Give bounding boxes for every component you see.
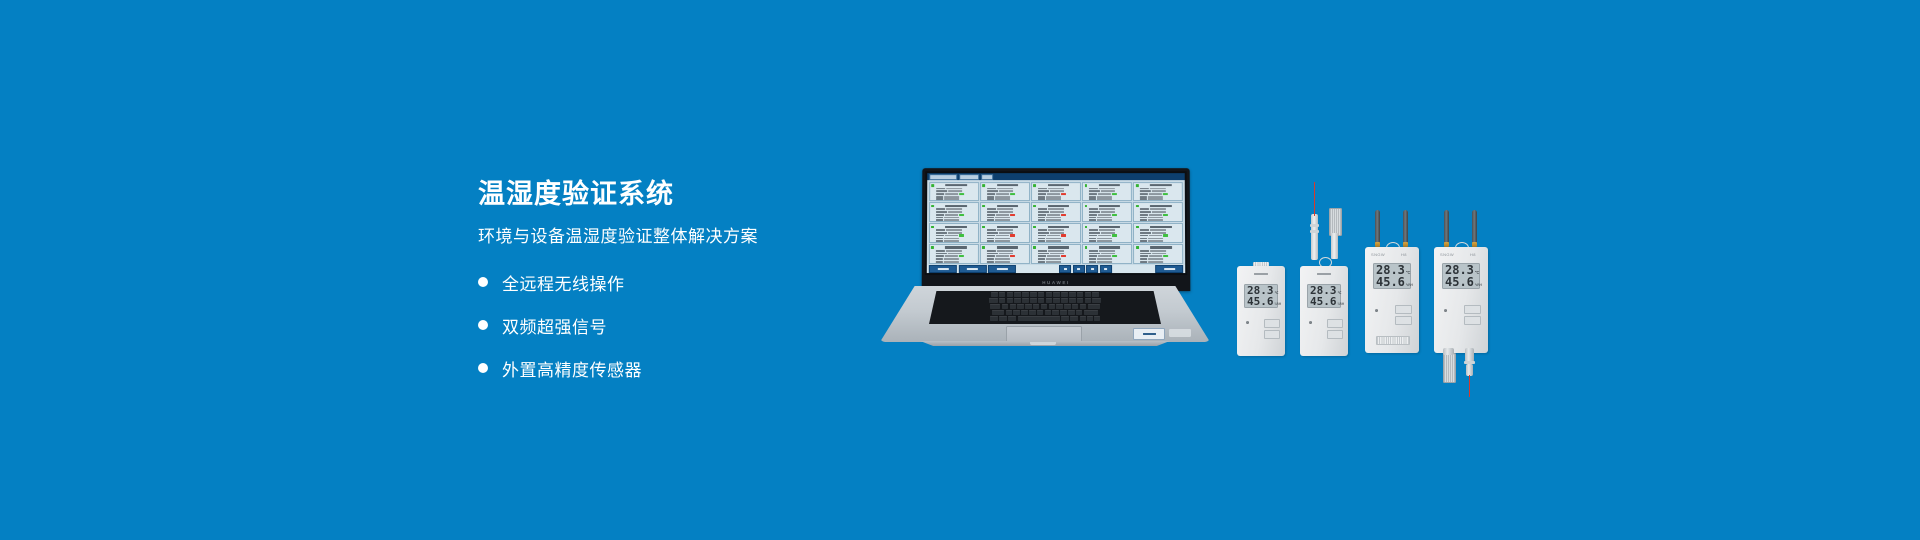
- sensor-field-value: [1046, 240, 1061, 242]
- sensor-card[interactable]: [1133, 182, 1183, 202]
- keyboard-key[interactable]: [999, 316, 1007, 321]
- laptop-lid: HUAWEI: [922, 168, 1191, 291]
- status-dot-icon: [1136, 226, 1139, 229]
- sensor-card-row: [1140, 193, 1181, 195]
- sensor-field-value: [943, 240, 958, 242]
- sensor-card-row: [1038, 190, 1079, 192]
- sensor-card[interactable]: [1082, 244, 1132, 264]
- keyboard-key[interactable]: [1069, 292, 1076, 297]
- keyboard-key[interactable]: [1007, 292, 1014, 297]
- sensor-field-value: [1046, 219, 1061, 221]
- sensor-card-title: [1150, 246, 1171, 248]
- keyboard-key[interactable]: [1064, 304, 1071, 309]
- sensor-card-row: [987, 199, 1028, 201]
- sensor-card-row: [987, 258, 1028, 260]
- sensor-field-value: [1101, 211, 1115, 213]
- status-dot-icon: [931, 246, 934, 249]
- page-subtitle: 环境与设备温湿度验证整体解决方案: [478, 226, 898, 248]
- keyboard-deck: [880, 286, 1210, 342]
- keyboard-key[interactable]: [1056, 304, 1063, 309]
- sensor-card[interactable]: [980, 182, 1030, 202]
- keyboard-key[interactable]: [1022, 298, 1029, 303]
- pager-button[interactable]: [1059, 265, 1071, 273]
- keyboard-key[interactable]: [1006, 310, 1013, 315]
- alarm-badge: [1010, 214, 1015, 216]
- bullet-dot-icon: [478, 277, 488, 287]
- keyboard-key[interactable]: [1007, 298, 1014, 303]
- sensor-card-title: [997, 246, 1018, 248]
- antenna-right: [1403, 210, 1408, 244]
- sensor-field-label: [1038, 240, 1045, 242]
- keyboard-key[interactable]: [1072, 304, 1079, 309]
- sensor-card-row: [1038, 196, 1079, 198]
- sensor-field-label: [987, 232, 998, 234]
- keyboard-key[interactable]: [1087, 316, 1093, 321]
- sensor-card-title: [1099, 205, 1120, 207]
- sensor-card-row: [1038, 188, 1079, 190]
- sensor-card[interactable]: [1031, 202, 1081, 222]
- device-button-up[interactable]: [1395, 305, 1412, 314]
- sensor-card-row: [935, 255, 976, 257]
- sensor-card[interactable]: [928, 223, 978, 243]
- keyboard-key[interactable]: [992, 310, 1004, 315]
- device-model-label-right: H8: [1470, 252, 1476, 257]
- device-wireless-gateway-1: SNGW H8 28.3 ℃ 45.6 %RH: [1365, 243, 1419, 353]
- sensor-card-row: [1038, 208, 1079, 210]
- keyboard-key[interactable]: [989, 298, 998, 303]
- laptop-product-image: HUAWEI: [880, 168, 1210, 368]
- sensor-field-value: [1148, 240, 1163, 242]
- device-model-label-left: SNGW: [1371, 252, 1385, 257]
- sensor-field-value: [1048, 188, 1064, 190]
- sensor-field-label: [1089, 208, 1098, 210]
- sensor-field-label: [1038, 219, 1045, 221]
- sensor-card[interactable]: [1031, 244, 1081, 264]
- sensor-field-value: [995, 258, 1010, 260]
- sensor-field-value: [945, 193, 958, 195]
- sensor-card-row: [987, 208, 1028, 210]
- sensor-field-label: [987, 250, 996, 252]
- toolbar-button[interactable]: [958, 265, 986, 273]
- sensor-field-value: [1097, 219, 1112, 221]
- sensor-field-value: [1097, 258, 1112, 260]
- keyboard-key[interactable]: [1014, 292, 1021, 297]
- sensor-field-value: [1148, 196, 1163, 198]
- sensor-field-value: [1050, 190, 1064, 192]
- sensor-card[interactable]: [980, 223, 1030, 243]
- sensor-field-value: [1099, 250, 1115, 252]
- keyboard-key[interactable]: [1092, 292, 1099, 297]
- sensor-card-row: [1089, 234, 1130, 236]
- keyboard-key[interactable]: [1080, 304, 1087, 309]
- device-button-down[interactable]: [1395, 316, 1412, 325]
- keyboard-key[interactable]: [1080, 316, 1086, 321]
- sensor-field-label: [987, 188, 996, 190]
- promo-banner: 温湿度验证系统 环境与设备温湿度验证整体解决方案 全远程无线操作 双频超强信号 …: [0, 0, 1920, 540]
- keyboard-key[interactable]: [1092, 298, 1101, 303]
- sensor-field-value: [1048, 250, 1064, 252]
- probe-collar: [1443, 348, 1454, 355]
- device-button-up[interactable]: [1264, 319, 1280, 328]
- sensor-field-label: [1038, 237, 1045, 239]
- keyboard-key[interactable]: [1069, 298, 1076, 303]
- sensor-field-label: [987, 217, 994, 219]
- keyboard-key[interactable]: [1022, 292, 1029, 297]
- sensor-field-value: [948, 190, 962, 192]
- sensor-field-label: [1089, 237, 1096, 239]
- keyboard-key[interactable]: [1038, 298, 1045, 303]
- sensor-card-row: [936, 188, 977, 190]
- status-dot-icon: [1085, 226, 1088, 229]
- sensor-field-label: [1140, 229, 1149, 231]
- sensor-field-value: [1148, 217, 1163, 219]
- sensor-card-title: [1150, 226, 1171, 228]
- sensor-field-value: [1150, 255, 1163, 257]
- sensor-field-value: [1150, 188, 1166, 190]
- sensor-field-label: [1089, 219, 1096, 221]
- keyboard-key[interactable]: [1061, 292, 1068, 297]
- sensor-card-title: [1048, 205, 1069, 207]
- sensor-card[interactable]: [980, 244, 1030, 264]
- sensor-field-label: [1038, 235, 1046, 237]
- keyboard-key[interactable]: [1038, 292, 1045, 297]
- sensor-card-row: [1089, 229, 1130, 231]
- sensor-card-row: [1038, 261, 1079, 263]
- sensor-card[interactable]: [1133, 223, 1183, 243]
- status-dot-icon: [1085, 184, 1088, 187]
- keyboard-key[interactable]: [1002, 304, 1009, 309]
- toolbar-button[interactable]: [988, 265, 1016, 273]
- keyboard-key[interactable]: [1041, 304, 1048, 309]
- sensor-field-value: [1050, 253, 1064, 255]
- keyboard-key[interactable]: [1070, 316, 1078, 321]
- laptop-base: [880, 286, 1210, 348]
- sensor-field-value: [948, 211, 962, 213]
- lcd-temperature-unit: ℃: [1406, 271, 1410, 275]
- sensor-field-label: [1141, 250, 1150, 252]
- keyboard-key[interactable]: [1052, 310, 1059, 315]
- sensor-field-value: [1149, 193, 1162, 195]
- gateway-body: SNGW H8 28.3 ℃ 45.6 %RH: [1434, 247, 1488, 353]
- sensor-card-row: [936, 214, 977, 216]
- device-wireless-gateway-2: SNGW H8 28.3 ℃ 45.6 %RH: [1434, 243, 1488, 353]
- lcd-humidity-row: 45.6 %RH: [1310, 296, 1338, 307]
- sensor-field-label: [936, 193, 944, 195]
- sensor-field-value: [1101, 232, 1115, 234]
- keyboard-key[interactable]: [1084, 310, 1098, 315]
- sensor-field-value: [947, 232, 961, 234]
- keyboard-key[interactable]: [1018, 316, 1060, 321]
- sensor-field-value: [1097, 237, 1112, 239]
- sensor-field-label: [1141, 253, 1152, 255]
- sensor-field-label: [1089, 235, 1097, 237]
- sensor-field-label: [935, 253, 946, 255]
- keyboard-key[interactable]: [1068, 310, 1075, 315]
- keyboard-key[interactable]: [1030, 298, 1037, 303]
- status-dot-icon: [1085, 205, 1088, 208]
- sensor-field-label: [1038, 214, 1046, 216]
- sensor-field-label: [1089, 240, 1096, 242]
- sensor-field-value: [1046, 199, 1061, 201]
- sensor-field-value: [944, 196, 959, 198]
- keyboard[interactable]: [929, 291, 1161, 324]
- sensor-card[interactable]: [928, 244, 978, 264]
- sensor-field-label: [987, 229, 996, 231]
- sensor-card-row: [987, 261, 1028, 263]
- sensor-card-grid: [927, 180, 1185, 265]
- sensor-field-label: [987, 235, 995, 237]
- sensor-card-row: [935, 250, 976, 252]
- lcd-humidity-value: 45.6: [1310, 296, 1337, 307]
- keyboard-key[interactable]: [1085, 292, 1092, 297]
- keyboard-key[interactable]: [1053, 292, 1060, 297]
- sensor-field-value: [944, 199, 959, 201]
- sensor-card[interactable]: [929, 202, 979, 222]
- sensor-field-label: [1038, 217, 1045, 219]
- sensor-card-title: [1150, 205, 1171, 207]
- keyboard-key[interactable]: [1021, 310, 1028, 315]
- sensor-card-row: [935, 229, 976, 231]
- keyboard-key[interactable]: [1094, 316, 1100, 321]
- sensor-card-row: [1089, 196, 1130, 198]
- sensor-field-label: [1089, 193, 1097, 195]
- sensor-field-label: [987, 219, 994, 221]
- sensor-card-row: [987, 190, 1028, 192]
- keyboard-key[interactable]: [1053, 298, 1060, 303]
- sensor-field-value: [945, 229, 961, 231]
- keyboard-key[interactable]: [1030, 292, 1037, 297]
- lcd-temperature-value: 28.3: [1247, 285, 1274, 296]
- lcd-humidity-value: 45.6: [1445, 276, 1474, 288]
- keyboard-key[interactable]: [1046, 292, 1053, 297]
- sensor-field-label: [935, 250, 944, 252]
- sensor-card-title: [946, 184, 967, 186]
- sensor-field-label: [1038, 255, 1046, 257]
- keyboard-key[interactable]: [1061, 316, 1069, 321]
- sensor-card-title: [1048, 246, 1069, 248]
- sensor-field-value: [1149, 214, 1162, 216]
- sensor-card-row: [1089, 217, 1130, 219]
- toolbar-button[interactable]: [929, 265, 957, 273]
- app-menu-item[interactable]: [959, 174, 979, 180]
- alarm-badge: [1061, 234, 1066, 236]
- keyboard-key[interactable]: [1045, 310, 1052, 315]
- sensor-card-row: [936, 190, 977, 192]
- sensor-card[interactable]: [1082, 182, 1132, 202]
- sensor-card-row: [1089, 237, 1130, 239]
- touchpad[interactable]: [1006, 326, 1082, 343]
- sensor-card[interactable]: [1133, 244, 1183, 264]
- keyboard-key[interactable]: [1085, 298, 1092, 303]
- app-menu-item[interactable]: [929, 174, 957, 180]
- sensor-field-label: [935, 237, 942, 239]
- keyboard-key[interactable]: [990, 304, 1000, 309]
- keyboard-key[interactable]: [990, 316, 998, 321]
- keyboard-key[interactable]: [999, 292, 1006, 297]
- sensor-field-label: [1038, 193, 1046, 195]
- sensor-field-value: [1149, 235, 1162, 237]
- keyboard-key[interactable]: [1077, 298, 1084, 303]
- sensor-field-label: [1089, 214, 1097, 216]
- keyboard-key[interactable]: [1061, 298, 1068, 303]
- sensor-field-value: [996, 193, 1009, 195]
- sensor-field-label: [987, 237, 994, 239]
- sensor-field-label: [987, 261, 994, 263]
- sensor-field-value: [944, 255, 957, 257]
- toolbar-button-exit[interactable]: [1155, 265, 1183, 273]
- sensor-card-row: [935, 240, 976, 242]
- status-dot-icon: [1136, 205, 1139, 208]
- sensor-card-row: [1038, 232, 1079, 234]
- alarm-badge: [1061, 255, 1066, 257]
- sensor-card-row: [1089, 258, 1130, 260]
- antenna-right: [1472, 210, 1477, 244]
- sensor-card[interactable]: [1133, 202, 1183, 222]
- sensor-card[interactable]: [1031, 223, 1081, 243]
- lcd-humidity-unit: %RH: [1406, 283, 1413, 287]
- sensor-card[interactable]: [980, 202, 1030, 222]
- device-button-up[interactable]: [1327, 319, 1343, 328]
- status-dot-icon: [1085, 246, 1088, 249]
- keyboard-key[interactable]: [1049, 304, 1056, 309]
- sensor-card-row: [936, 208, 977, 210]
- sensor-card-row: [1089, 190, 1130, 192]
- sensor-field-value: [1050, 211, 1064, 213]
- ok-badge: [959, 214, 964, 216]
- sensor-card[interactable]: [1031, 182, 1081, 202]
- sensor-field-value: [996, 235, 1009, 237]
- sensor-field-value: [1153, 253, 1167, 255]
- status-dot-icon: [982, 246, 985, 249]
- pager-button[interactable]: [1100, 265, 1112, 273]
- keyboard-key[interactable]: [1088, 304, 1100, 309]
- status-dot-icon: [982, 226, 985, 229]
- sensor-card-row: [1140, 188, 1181, 190]
- keyboard-key[interactable]: [1025, 304, 1032, 309]
- sensor-field-value: [1098, 193, 1111, 195]
- sensor-field-value: [995, 261, 1010, 263]
- keyboard-key[interactable]: [1046, 298, 1053, 303]
- sensor-field-label: [1089, 211, 1100, 213]
- app-menu-item[interactable]: [981, 174, 993, 180]
- sensor-field-label: [987, 253, 998, 255]
- pager-button[interactable]: [1073, 265, 1085, 273]
- keyboard-key[interactable]: [1008, 316, 1016, 321]
- lcd-humidity-row: 45.6 %RH: [1376, 276, 1408, 288]
- sensor-field-value: [1098, 214, 1111, 216]
- sensor-field-label: [987, 199, 994, 201]
- sensor-card[interactable]: [929, 182, 979, 202]
- sensor-card-row: [1140, 208, 1181, 210]
- sensor-card-row: [1038, 255, 1079, 257]
- status-dot-icon: [1033, 205, 1036, 208]
- keyboard-key[interactable]: [1014, 298, 1021, 303]
- status-dot-icon: [1034, 184, 1037, 187]
- sensor-field-value: [997, 208, 1013, 210]
- sensor-card-row: [987, 234, 1028, 236]
- ok-badge: [959, 193, 964, 195]
- sensor-field-value: [945, 250, 961, 252]
- sensor-card-row: [1038, 214, 1079, 216]
- lcd-temperature-row: 28.3 ℃: [1445, 264, 1477, 276]
- device-button-up[interactable]: [1464, 305, 1481, 314]
- keyboard-key[interactable]: [999, 298, 1006, 303]
- sensor-field-label: [936, 217, 943, 219]
- sensor-card-row: [1089, 214, 1130, 216]
- keyboard-key[interactable]: [1037, 310, 1044, 315]
- ok-badge: [1112, 214, 1117, 216]
- sensor-card-row: [1140, 237, 1181, 239]
- lcd-temperature-value: 28.3: [1445, 264, 1474, 276]
- sensor-card-row: [1038, 193, 1079, 195]
- sensor-card[interactable]: [1082, 223, 1132, 243]
- device-model-label-left: SNGW: [1440, 252, 1454, 257]
- keyboard-key[interactable]: [1013, 310, 1020, 315]
- page-title: 温湿度验证系统: [478, 178, 898, 212]
- keyboard-key[interactable]: [991, 292, 998, 297]
- sensor-field-label: [1038, 253, 1049, 255]
- sensor-card-row: [1038, 199, 1079, 201]
- sensor-card-row: [987, 188, 1028, 190]
- probe-sensor-head: [1329, 208, 1342, 236]
- sensor-field-value: [1099, 229, 1115, 231]
- ok-badge: [1010, 193, 1015, 195]
- keyboard-key[interactable]: [1029, 310, 1036, 315]
- lcd-temperature-value: 28.3: [1376, 264, 1405, 276]
- status-led: [1375, 309, 1378, 312]
- keyboard-key[interactable]: [1033, 304, 1040, 309]
- sensor-card-row: [987, 211, 1028, 213]
- sensor-field-label: [1038, 196, 1045, 198]
- sensor-field-label: [1038, 261, 1045, 263]
- sensor-card-row: [1140, 214, 1181, 216]
- status-led: [1444, 309, 1447, 312]
- sensor-field-label: [935, 235, 943, 237]
- sensor-card-row: [1038, 219, 1079, 221]
- sensor-card-row: [1038, 240, 1079, 242]
- keyboard-key[interactable]: [1017, 304, 1024, 309]
- lcd-temperature-row: 28.3 ℃: [1310, 285, 1338, 296]
- sensor-field-label: [1089, 258, 1096, 260]
- device-button-down[interactable]: [1464, 316, 1481, 325]
- sensor-card-row: [1089, 219, 1130, 221]
- pager-button[interactable]: [1086, 265, 1098, 273]
- keyboard-key[interactable]: [1060, 310, 1067, 315]
- lcd-temperature-value: 28.3: [1310, 285, 1337, 296]
- sensor-field-value: [995, 219, 1010, 221]
- sensor-field-label: [1140, 208, 1149, 210]
- sensor-field-label: [987, 196, 994, 198]
- sensor-card-row: [1140, 232, 1181, 234]
- keyboard-key[interactable]: [1010, 304, 1017, 309]
- sensor-field-value: [999, 232, 1013, 234]
- sensor-card[interactable]: [1082, 202, 1132, 222]
- sensor-field-value: [1148, 237, 1163, 239]
- device-button-down[interactable]: [1264, 330, 1280, 339]
- device-button-down[interactable]: [1327, 330, 1343, 339]
- status-dot-icon: [1136, 184, 1139, 187]
- bullet-dot-icon: [478, 320, 488, 330]
- keyboard-key[interactable]: [1077, 292, 1084, 297]
- keyboard-key[interactable]: [1076, 310, 1083, 315]
- sensor-field-label: [936, 211, 947, 213]
- sensor-card-row: [1089, 255, 1130, 257]
- sensor-card-title: [1099, 226, 1120, 228]
- sensor-field-label: [936, 199, 943, 201]
- lcd-display: 28.3 ℃ 45.6 %RH: [1307, 284, 1341, 308]
- keyboard-row: [929, 304, 1161, 309]
- sensor-card-row: [1089, 232, 1130, 234]
